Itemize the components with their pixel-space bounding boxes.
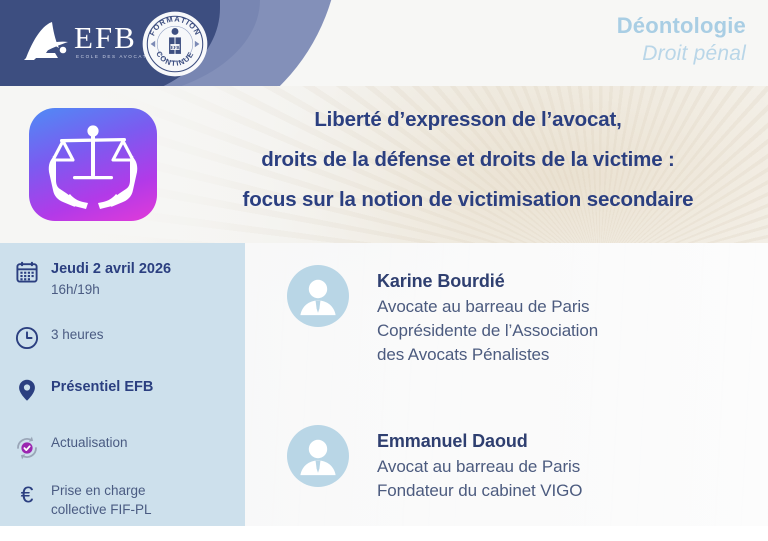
- main-content: Jeudi 2 avril 2026 16h/19h 3 heures: [0, 243, 768, 526]
- efb-logo-tagline: ECOLE DES AVOCATS: [76, 54, 152, 59]
- details-panel: Jeudi 2 avril 2026 16h/19h 3 heures: [0, 243, 245, 526]
- detail-date-primary: Jeudi 2 avril 2026: [51, 259, 171, 280]
- page-title: Liberté d’expresson de l’avocat, droits …: [176, 100, 760, 219]
- euro-icon: €: [10, 481, 44, 508]
- page-title-line-3: focus sur la notion de victimisation sec…: [176, 180, 760, 220]
- refresh-check-icon: [10, 433, 44, 462]
- speaker-name: Emmanuel Daoud: [377, 429, 582, 455]
- detail-funding-line-2: collective FIF-PL: [51, 500, 152, 519]
- detail-date-secondary: 16h/19h: [51, 280, 171, 299]
- page-title-line-2: droits de la défense et droits de la vic…: [176, 140, 760, 180]
- speaker-card: Emmanuel Daoud Avocat au barreau de Pari…: [287, 425, 582, 503]
- detail-date-text: Jeudi 2 avril 2026 16h/19h: [44, 259, 171, 299]
- detail-row-duration: 3 heures: [10, 325, 104, 350]
- detail-location-text: Présentiel EFB: [44, 377, 153, 398]
- svg-text:€: €: [21, 482, 34, 508]
- clock-glyph: [15, 326, 39, 350]
- detail-duration-text: 3 heures: [44, 325, 104, 344]
- detail-funding-text: Prise en charge collective FIF-PL: [44, 481, 152, 519]
- detail-update-value: Actualisation: [51, 433, 128, 452]
- speaker-role-line-2: Fondateur du cabinet VIGO: [377, 479, 582, 503]
- speaker-role-line-3: des Avocats Pénalistes: [377, 343, 598, 367]
- header-subcategory: Droit pénal: [617, 40, 746, 67]
- footer-strip: [0, 526, 768, 541]
- euro-glyph: €: [14, 482, 40, 508]
- header-bar: EFB ECOLE DES AVOCATS FORMATION CONTINUE: [0, 0, 768, 86]
- refresh-check-glyph: [13, 434, 41, 462]
- speaker-info: Emmanuel Daoud Avocat au barreau de Pari…: [349, 425, 582, 503]
- seal-icon: FORMATION CONTINUE EFB: [142, 11, 208, 77]
- person-avatar-icon: [287, 265, 349, 327]
- svg-text:EFB: EFB: [171, 45, 180, 50]
- speaker-role-line-2: Coprésidente de l’Association: [377, 319, 598, 343]
- poster-root: EFB ECOLE DES AVOCATS FORMATION CONTINUE: [0, 0, 768, 541]
- clock-icon: [10, 325, 44, 350]
- person-avatar-icon: [287, 425, 349, 487]
- efb-logo-text: EFB: [74, 22, 137, 53]
- formation-continue-seal: FORMATION CONTINUE EFB: [142, 11, 208, 77]
- pin-glyph: [15, 378, 39, 402]
- calendar-icon: [10, 259, 44, 284]
- speaker-card: Karine Bourdié Avocate au barreau de Par…: [287, 265, 598, 367]
- detail-duration-value: 3 heures: [51, 325, 104, 344]
- header-category: Déontologie: [617, 12, 746, 40]
- location-pin-icon: [10, 377, 44, 402]
- avatar-glyph: [287, 425, 349, 487]
- detail-row-funding: € Prise en charge collective FIF-PL: [10, 481, 152, 519]
- detail-funding-line-1: Prise en charge: [51, 481, 152, 500]
- justice-scales-hands-icon: [29, 108, 157, 221]
- detail-row-update: Actualisation: [10, 433, 128, 462]
- detail-location-value: Présentiel EFB: [51, 377, 153, 398]
- speaker-info: Karine Bourdié Avocate au barreau de Par…: [349, 265, 598, 367]
- title-band: Liberté d’expresson de l’avocat, droits …: [0, 86, 768, 243]
- header-category-group: Déontologie Droit pénal: [617, 12, 746, 67]
- detail-row-date: Jeudi 2 avril 2026 16h/19h: [10, 259, 171, 299]
- speaker-name: Karine Bourdié: [377, 269, 598, 295]
- avatar-glyph: [287, 265, 349, 327]
- speaker-role-line-1: Avocat au barreau de Paris: [377, 455, 582, 479]
- detail-row-location: Présentiel EFB: [10, 377, 153, 402]
- calendar-glyph: [15, 260, 39, 284]
- page-title-line-1: Liberté d’expresson de l’avocat,: [176, 100, 760, 140]
- detail-update-text: Actualisation: [44, 433, 128, 452]
- scales-glyph: [29, 108, 157, 221]
- speaker-role-line-1: Avocate au barreau de Paris: [377, 295, 598, 319]
